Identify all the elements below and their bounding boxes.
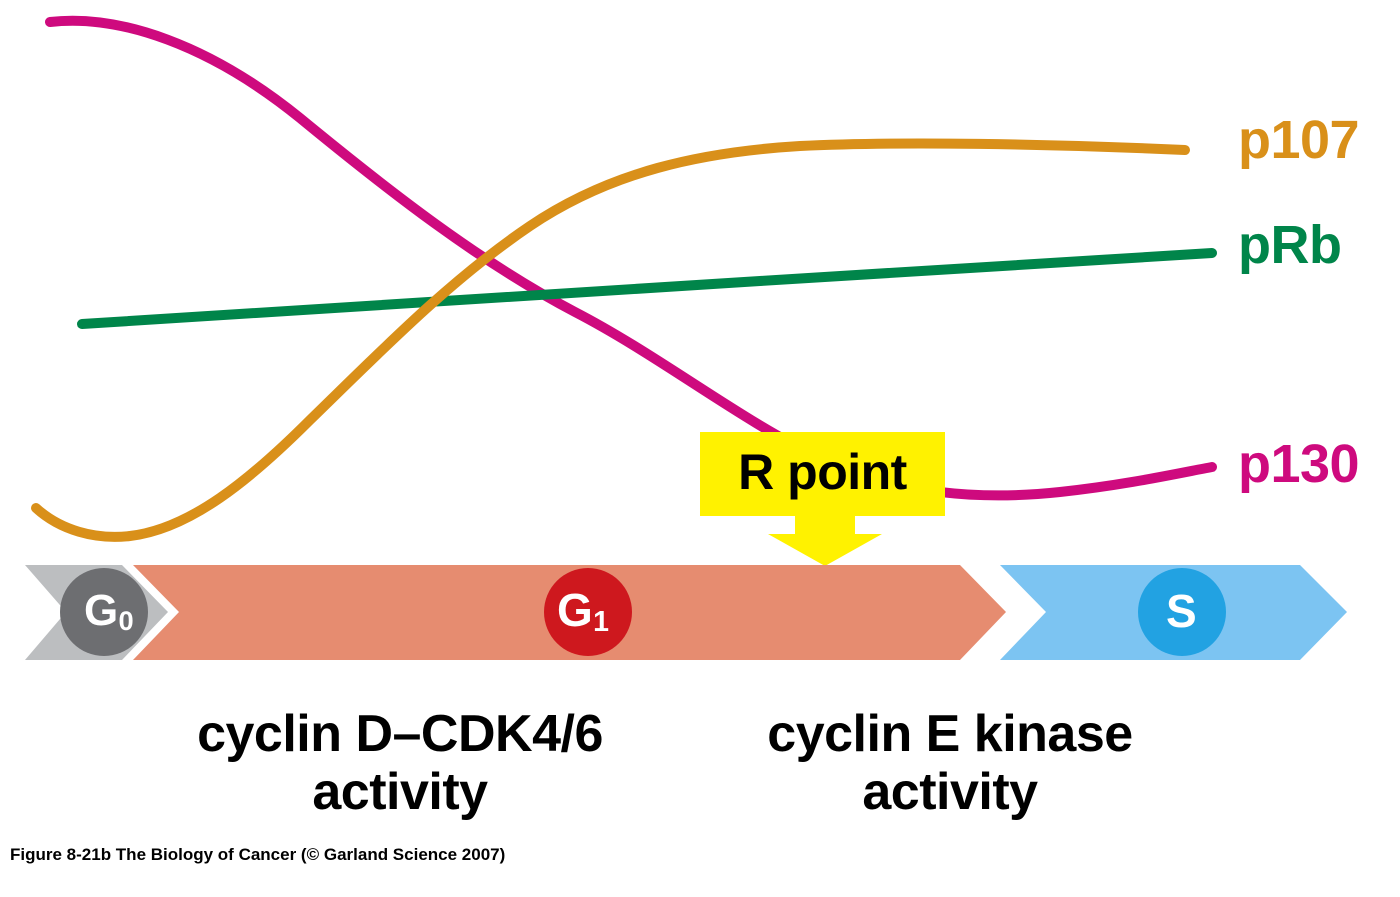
curve-p107: [36, 143, 1185, 536]
activity-label-cyclin-e-line1: cyclin E kinase: [690, 705, 1210, 763]
curve-p130: [50, 21, 1212, 496]
activity-label-cyclin-e-line2: activity: [690, 763, 1210, 821]
phase-label-g0: G0: [84, 589, 133, 633]
figure-caption: Figure 8-21b The Biology of Cancer (© Ga…: [10, 845, 505, 865]
activity-label-cyclin-d-line1: cyclin D–CDK4/6: [90, 705, 710, 763]
activity-label-cyclin-d: cyclin D–CDK4/6 activity: [90, 705, 710, 821]
phase-label-g1-letter: G: [557, 584, 593, 636]
curve-label-p130: p130: [1238, 437, 1359, 491]
curve-label-p107: p107: [1238, 113, 1359, 167]
curve-pRb: [82, 253, 1212, 324]
phase-bar: [25, 565, 1347, 660]
phase-label-g0-subscript: 0: [119, 605, 134, 636]
r-point-arrow-shape: [768, 516, 882, 566]
curve-group: [36, 21, 1212, 537]
curve-label-pRb: pRb: [1238, 218, 1341, 272]
r-point-box[interactable]: R point: [700, 432, 945, 516]
activity-label-cyclin-e: cyclin E kinase activity: [690, 705, 1210, 821]
phase-label-g0-letter: G: [84, 586, 118, 635]
activity-label-cyclin-d-line2: activity: [90, 763, 710, 821]
phase-label-g1: G1: [557, 587, 609, 633]
r-point-label: R point: [738, 447, 907, 497]
phase-label-s-letter: S: [1166, 585, 1197, 637]
phase-label-s: S: [1166, 588, 1197, 634]
figure-container: p107 pRb p130 R point G0 G1 S cyclin D–C…: [0, 0, 1400, 897]
phase-label-g1-subscript: 1: [593, 606, 609, 638]
